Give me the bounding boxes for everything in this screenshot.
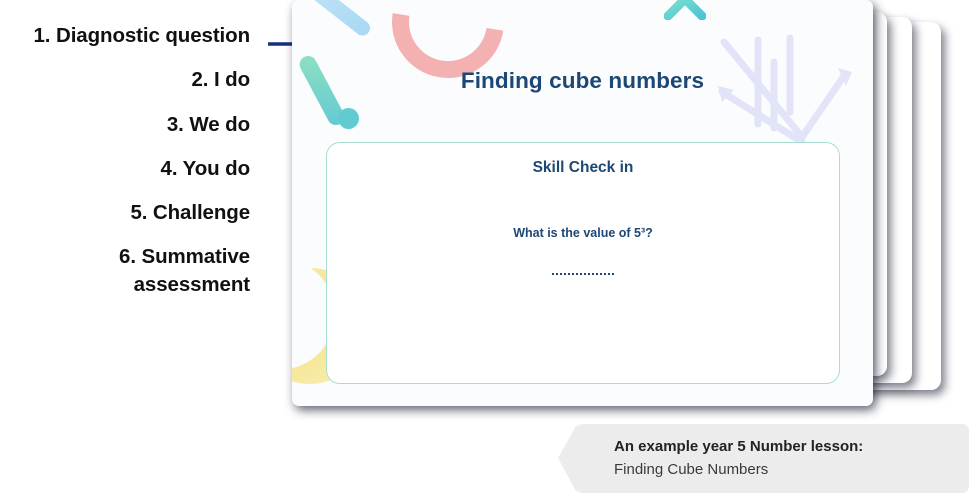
skill-check-heading: Skill Check in: [327, 159, 839, 177]
answer-line[interactable]: [552, 273, 614, 275]
slide-stack[interactable]: ³: [280, 0, 969, 420]
front-slide[interactable]: Finding cube numbers Skill Check in What…: [292, 0, 873, 406]
teal-chevron-icon: [664, 0, 706, 20]
lesson-step-5-label: 5. Challenge: [130, 201, 250, 224]
caption-callout: An example year 5 Number lesson: Finding…: [576, 424, 969, 493]
lesson-step-3[interactable]: 3. We do: [0, 111, 262, 138]
skill-check-question: What is the value of 5³?: [327, 226, 839, 240]
lesson-step-1[interactable]: 1. Diagnostic question: [0, 22, 262, 49]
caption-line-2: Finding Cube Numbers: [614, 458, 951, 481]
caption-line-1: An example year 5 Number lesson:: [614, 435, 951, 458]
lesson-step-6-label: 6. Summative assessment: [119, 245, 250, 295]
lesson-step-4[interactable]: 4. You do: [0, 155, 262, 182]
green-dot-icon: [338, 108, 359, 129]
slide-title: Finding cube numbers: [292, 68, 873, 94]
lesson-step-6[interactable]: 6. Summative assessment: [0, 243, 262, 298]
blue-diagonal-bar-icon: [307, 0, 373, 39]
lesson-step-4-label: 4. You do: [161, 157, 250, 180]
skill-check-card: Skill Check in What is the value of 5³?: [326, 142, 840, 384]
lesson-step-5[interactable]: 5. Challenge: [0, 199, 262, 226]
lesson-steps-list: 1. Diagnostic question 2. I do 3. We do …: [0, 22, 262, 315]
lesson-step-2[interactable]: 2. I do: [0, 66, 262, 93]
lesson-step-2-label: 2. I do: [191, 68, 250, 91]
lesson-step-1-label: 1. Diagnostic question: [34, 24, 251, 47]
lesson-preview-stage: 1. Diagnostic question 2. I do 3. We do …: [0, 0, 969, 497]
lesson-step-3-label: 3. We do: [167, 113, 250, 136]
